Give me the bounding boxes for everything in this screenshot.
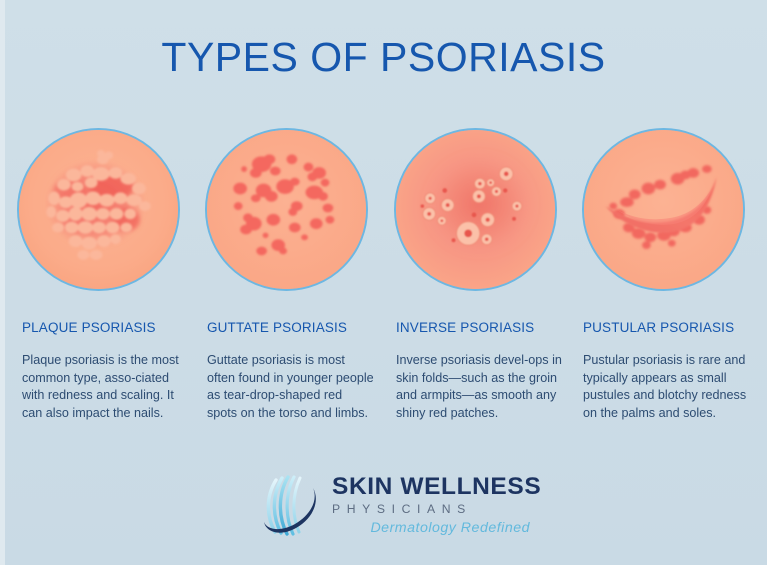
description-inverse: Inverse psoriasis devel-ops in skin fold… — [396, 352, 564, 422]
heading-inverse: INVERSE PSORIASIS — [396, 320, 564, 335]
column-guttate: GUTTATE PSORIASIS Guttate psoriasis is m… — [207, 320, 375, 422]
illustrations-row — [0, 128, 767, 292]
heading-plaque: PLAQUE PSORIASIS — [22, 320, 190, 335]
plaque-psoriasis-skin-illustration — [17, 128, 180, 291]
inverse-psoriasis-skin-illustration — [394, 128, 557, 291]
page-title: TYPES OF PSORIASIS — [0, 34, 767, 81]
logo-tagline: Dermatology Redefined — [332, 519, 530, 538]
illustration-inverse — [394, 128, 557, 291]
heading-guttate: GUTTATE PSORIASIS — [207, 320, 375, 335]
swoosh-arcs-logo-mark — [256, 470, 330, 540]
description-plaque: Plaque psoriasis is the most common type… — [22, 352, 190, 422]
illustration-plaque — [17, 128, 180, 291]
description-guttate: Guttate psoriasis is most often found in… — [207, 352, 375, 422]
column-pustular: PUSTULAR PSORIASIS Pustular psoriasis is… — [583, 320, 751, 422]
description-pustular: Pustular psoriasis is rare and typically… — [583, 352, 751, 422]
logo-subtitle: PHYSICIANS — [332, 500, 534, 519]
guttate-psoriasis-skin-illustration — [205, 128, 368, 291]
brand-logo: SKIN WELLNESS PHYSICIANS Dermatology Red… — [256, 468, 534, 546]
pustular-psoriasis-skin-illustration — [582, 128, 745, 291]
illustration-pustular — [582, 128, 745, 291]
logo-wordmark: SKIN WELLNESS PHYSICIANS Dermatology Red… — [332, 474, 534, 538]
column-plaque: PLAQUE PSORIASIS Plaque psoriasis is the… — [22, 320, 190, 422]
illustration-guttate — [205, 128, 368, 291]
column-inverse: INVERSE PSORIASIS Inverse psoriasis deve… — [396, 320, 564, 422]
psoriasis-infographic: TYPES OF PSORIASIS — [0, 0, 767, 565]
heading-pustular: PUSTULAR PSORIASIS — [583, 320, 751, 335]
logo-name: SKIN WELLNESS — [332, 474, 534, 500]
